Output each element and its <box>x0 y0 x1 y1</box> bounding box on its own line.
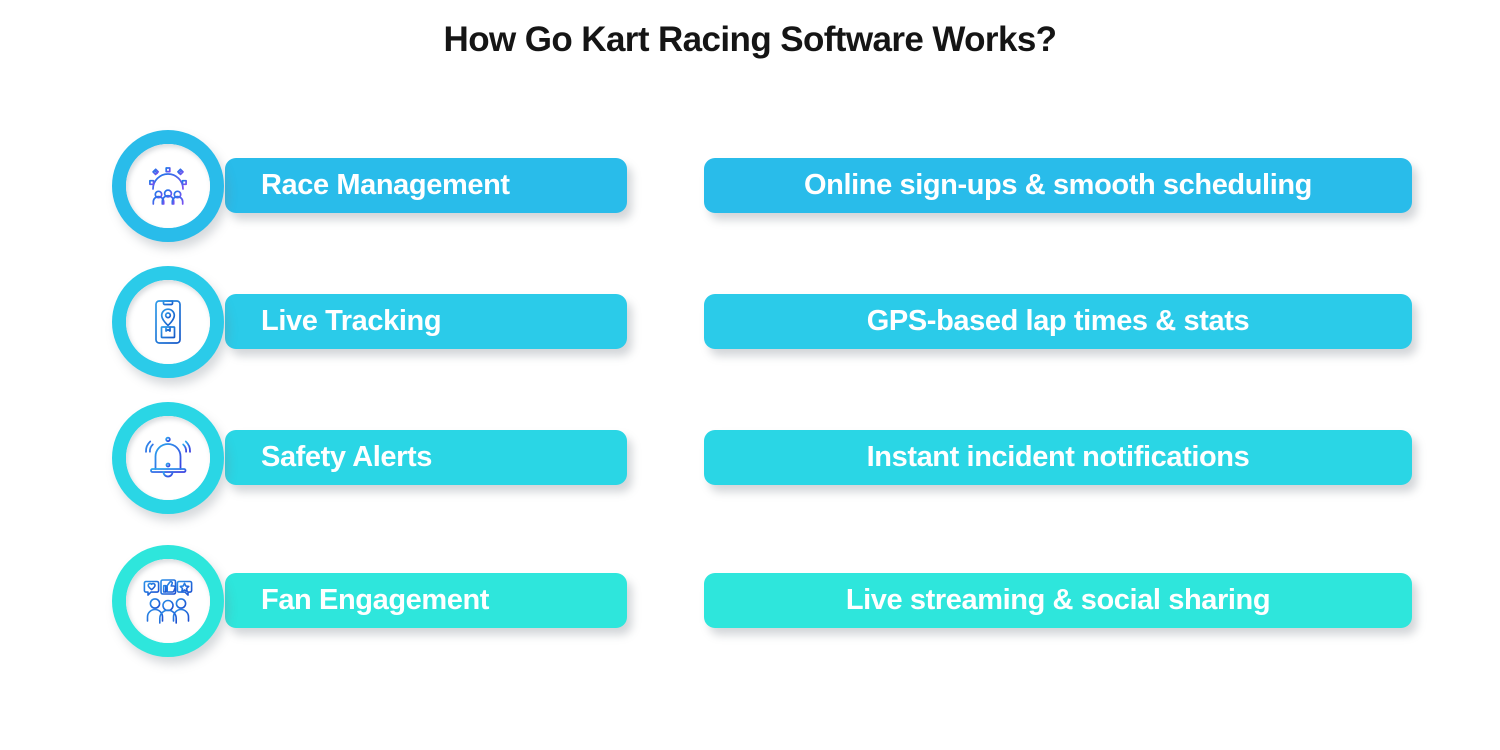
feature-description-text: Live streaming & social sharing <box>846 586 1270 615</box>
feature-description-text: Online sign-ups & smooth scheduling <box>804 171 1312 200</box>
feature-description-text: Instant incident notifications <box>867 443 1250 472</box>
feature-rows: Race Management Online sign-ups & smooth… <box>0 0 1500 750</box>
feature-description-bar[interactable]: GPS-based lap times & stats <box>704 294 1412 349</box>
feature-description-bar[interactable]: Instant incident notifications <box>704 430 1412 485</box>
feature-icon-badge <box>112 266 224 378</box>
feature-label-bar[interactable]: Fan Engagement <box>225 573 627 628</box>
feature-label-text: Safety Alerts <box>261 443 432 472</box>
feature-label-text: Race Management <box>261 171 510 200</box>
feature-description-bar[interactable]: Live streaming & social sharing <box>704 573 1412 628</box>
badge-inner-circle <box>126 416 210 500</box>
feature-row: Fan Engagement Live streaming & social s… <box>0 545 1500 675</box>
fan-engagement-icon <box>140 573 196 629</box>
feature-label-bar[interactable]: Race Management <box>225 158 627 213</box>
badge-inner-circle <box>126 559 210 643</box>
feature-description-bar[interactable]: Online sign-ups & smooth scheduling <box>704 158 1412 213</box>
feature-label-text: Fan Engagement <box>261 586 489 615</box>
feature-label-bar[interactable]: Safety Alerts <box>225 430 627 485</box>
gear-people-icon <box>142 160 194 212</box>
badge-inner-circle <box>126 280 210 364</box>
feature-row: Race Management Online sign-ups & smooth… <box>0 130 1500 260</box>
feature-label-bar[interactable]: Live Tracking <box>225 294 627 349</box>
phone-location-package-icon <box>142 296 194 348</box>
feature-row: Safety Alerts Instant incident notificat… <box>0 402 1500 532</box>
feature-row: Live Tracking GPS-based lap times & stat… <box>0 266 1500 396</box>
feature-icon-badge <box>112 545 224 657</box>
badge-inner-circle <box>126 144 210 228</box>
infographic-canvas: How Go Kart Racing Software Works? <box>0 0 1500 750</box>
alert-bell-icon <box>141 431 195 485</box>
feature-label-text: Live Tracking <box>261 307 441 336</box>
feature-icon-badge <box>112 402 224 514</box>
feature-description-text: GPS-based lap times & stats <box>867 307 1249 336</box>
feature-icon-badge <box>112 130 224 242</box>
